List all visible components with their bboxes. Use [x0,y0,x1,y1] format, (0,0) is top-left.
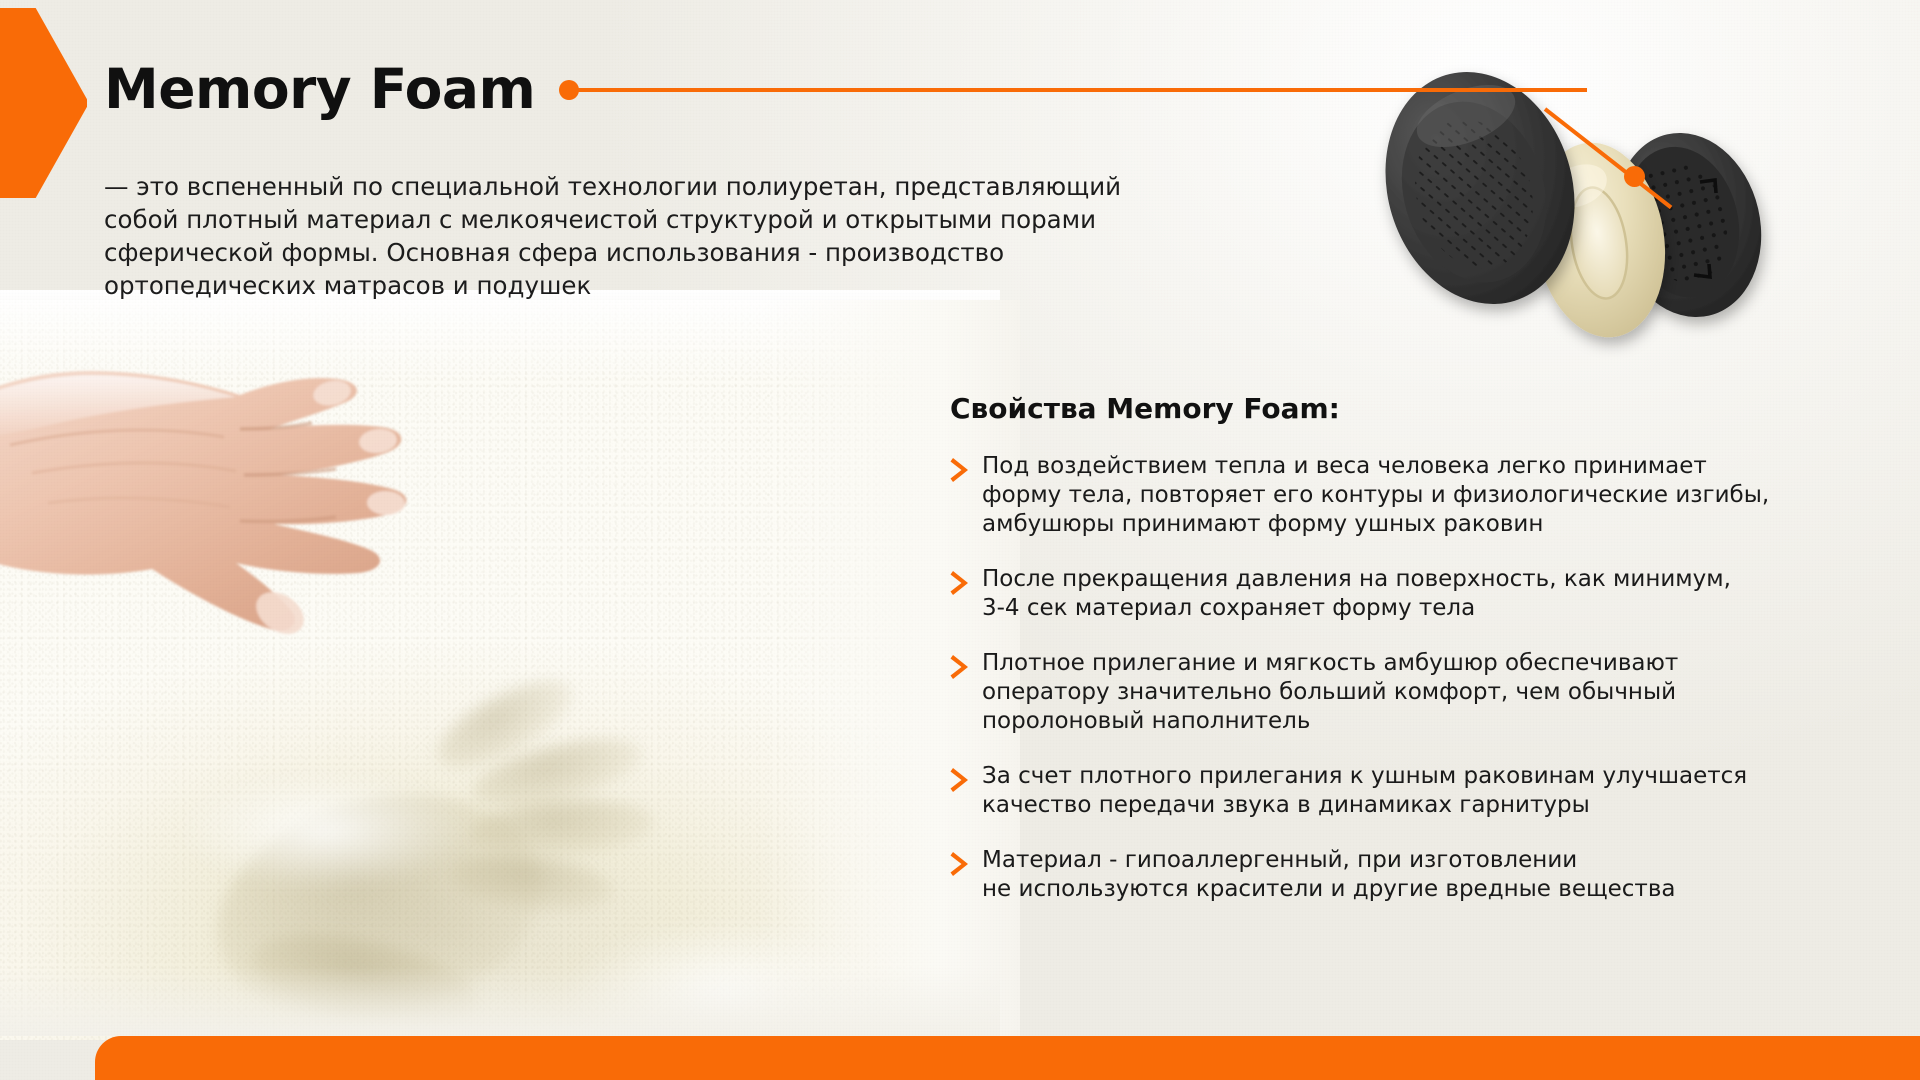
property-line: качество передачи звука в динамиках гарн… [982,791,1747,820]
property-line: не используются красители и другие вредн… [982,875,1675,904]
property-line: За счет плотного прилегания к ушным рако… [982,762,1747,791]
property-line: поролоновый наполнитель [982,707,1678,736]
hand-illustration [0,325,500,655]
property-item: Плотное прилегание и мягкость амбушюр об… [948,649,1893,736]
property-line: Под воздействием тепла и веса человека л… [982,452,1769,481]
property-text: Материал - гипоаллергенный, при изготовл… [982,846,1675,904]
property-item: После прекращения давления на поверхност… [948,565,1893,623]
intro-line-3: сферической формы. Основная сфера исполь… [104,236,1034,269]
intro-line-4: ортопедических матрасов и подушек [104,269,1034,302]
chevron-right-icon [948,849,974,879]
intro-line-2: собой плотный материал с мелкоячеистой с… [104,203,1034,236]
property-text: После прекращения давления на поверхност… [982,565,1731,623]
orange-corner-chevron-icon [0,8,87,198]
slide-canvas: Memory Foam — это вспененный по специаль… [0,0,1920,1080]
intro-line-1: — это вспененный по специальной технолог… [104,170,1034,203]
property-line: амбушюры принимают форму ушных раковин [982,510,1769,539]
property-line: После прекращения давления на поверхност… [982,565,1731,594]
chevron-right-icon [948,455,974,485]
property-item: Материал - гипоаллергенный, при изготовл… [948,846,1893,904]
page-title: Memory Foam [104,62,535,117]
property-line: Плотное прилегание и мягкость амбушюр об… [982,649,1678,678]
foam-highlight-left [175,770,475,890]
bullet-marker [948,565,982,623]
hand-pressing-memory-foam-photo [0,300,980,1040]
leader-line [577,88,1587,92]
property-text: За счет плотного прилегания к ушным рако… [982,762,1747,820]
property-item: Под воздействием тепла и веса человека л… [948,452,1893,539]
property-line: форму тела, повторяет его контуры и физи… [982,481,1769,510]
orange-footer-bar [95,1036,1920,1080]
leader-start-dot-icon [559,80,579,100]
property-line: оператору значительно больший комфорт, ч… [982,678,1678,707]
property-item: За счет плотного прилегания к ушным рако… [948,762,1893,820]
properties-heading: Свойства Memory Foam: [950,392,1340,425]
property-line: 3-4 сек материал сохраняет форму тела [982,594,1731,623]
bullet-marker [948,762,982,820]
chevron-right-icon [948,568,974,598]
properties-list: Под воздействием тепла и веса человека л… [948,452,1893,930]
leader-end-dot-icon [1624,166,1645,187]
property-text: Под воздействием тепла и веса человека л… [982,452,1769,539]
property-line: Материал - гипоаллергенный, при изготовл… [982,846,1675,875]
bullet-marker [948,452,982,539]
property-text: Плотное прилегание и мягкость амбушюр об… [982,649,1678,736]
chevron-right-icon [948,765,974,795]
bullet-marker [948,649,982,736]
intro-paragraph: — это вспененный по специальной технолог… [104,170,1034,302]
title-row: Memory Foam [104,62,1587,117]
chevron-right-icon [948,652,974,682]
bullet-marker [948,846,982,904]
